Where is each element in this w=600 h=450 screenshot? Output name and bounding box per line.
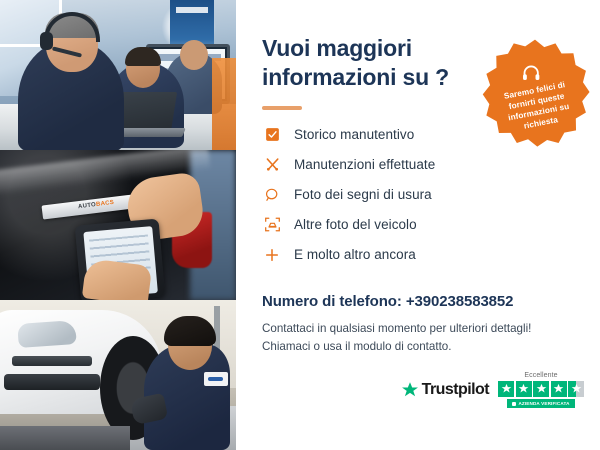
checkbox-checked-icon (262, 127, 282, 142)
verified-company-badge: AZIENDA VERIFICATA (507, 399, 574, 408)
background-agent-2-hair (125, 47, 161, 66)
car-headlight (17, 320, 77, 348)
contact-subtext-line-1: Contattaci in qualsiasi momento per ulte… (262, 322, 531, 335)
phone-label: Numero di telefono: (262, 293, 406, 310)
technician-hand-lower (82, 258, 152, 300)
headline-line-2: informazioni su ? (262, 64, 449, 90)
mechanic-wheel-inspection-photo (0, 300, 236, 450)
feature-label: Altre foto del veicolo (294, 217, 417, 232)
rating-star-4 (551, 381, 567, 397)
phone-number[interactable]: +390238583852 (406, 293, 514, 310)
title-divider (262, 106, 302, 110)
speech-bubble-icon (262, 187, 282, 203)
feature-label: Storico manutentivo (294, 127, 414, 142)
trustpilot-widget[interactable]: Trustpilot Eccellente (401, 372, 584, 408)
feature-label: Foto dei segni di usura (294, 187, 432, 202)
feature-label: Manutenzioni effettuate (294, 157, 435, 172)
page-title: Vuoi maggiori informazioni su ? (262, 34, 477, 92)
feature-item-foto-segni-usura[interactable]: Foto dei segni di usura (262, 180, 576, 210)
car-upper-grille (12, 356, 92, 366)
contact-subtext-line-2: Chiamaci o usa il modulo di contatto. (262, 340, 451, 353)
vehicle-lift-platform (0, 426, 130, 450)
rating-star-2 (516, 381, 532, 397)
trustpilot-wordmark: Trustpilot (422, 381, 489, 399)
contact-subtext: Contattaci in qualsiasi momento per ulte… (262, 320, 576, 356)
orange-signage (212, 58, 236, 150)
headline-line-1: Vuoi maggiori (262, 35, 412, 61)
rating-star-1 (498, 381, 514, 397)
photo-column: AUTOBACS (0, 0, 236, 450)
badge-text: Saremo felici di fornirti queste informa… (491, 77, 584, 137)
call-center-agents-photo (0, 0, 236, 150)
feature-item-molto-altro-ancora[interactable]: E molto altro ancora (262, 240, 576, 270)
tools-crossed-icon (262, 156, 282, 173)
verified-check-icon (512, 402, 516, 406)
car-lower-grille (4, 374, 100, 390)
content-panel: Vuoi maggiori informazioni su ? Saremo f… (236, 0, 600, 450)
feature-item-altre-foto-veicolo[interactable]: Altre foto del veicolo (262, 210, 576, 240)
plus-icon (262, 247, 282, 263)
trustpilot-star-icon (401, 381, 419, 399)
headset-icon (521, 63, 541, 83)
verified-label: AZIENDA VERIFICATA (518, 401, 569, 406)
rating-star-5-half (568, 381, 584, 397)
info-on-request-badge: Saremo felici di fornirti queste informa… (480, 38, 590, 148)
headset-earcup-icon (40, 32, 53, 50)
star-rating (498, 381, 584, 397)
background-agent-3-head (180, 40, 208, 70)
rating-star-3 (533, 381, 549, 397)
phone-line: Numero di telefono: +390238583852 (262, 293, 576, 310)
car-paint-inspection-photo: AUTOBACS (0, 150, 236, 300)
feature-item-manutenzioni-effettuate[interactable]: Manutenzioni effettuate (262, 150, 576, 180)
trustpilot-rating: Eccellente (498, 372, 584, 408)
car-scan-frame-icon (262, 216, 282, 233)
feature-label: E molto altro ancora (294, 247, 416, 262)
uniform-logo-patch (204, 372, 228, 386)
trustpilot-logo: Trustpilot (401, 381, 489, 399)
promo-banner: AUTOBACS Vuoi maggiori info (0, 0, 600, 450)
rating-label: Eccellente (524, 372, 557, 379)
